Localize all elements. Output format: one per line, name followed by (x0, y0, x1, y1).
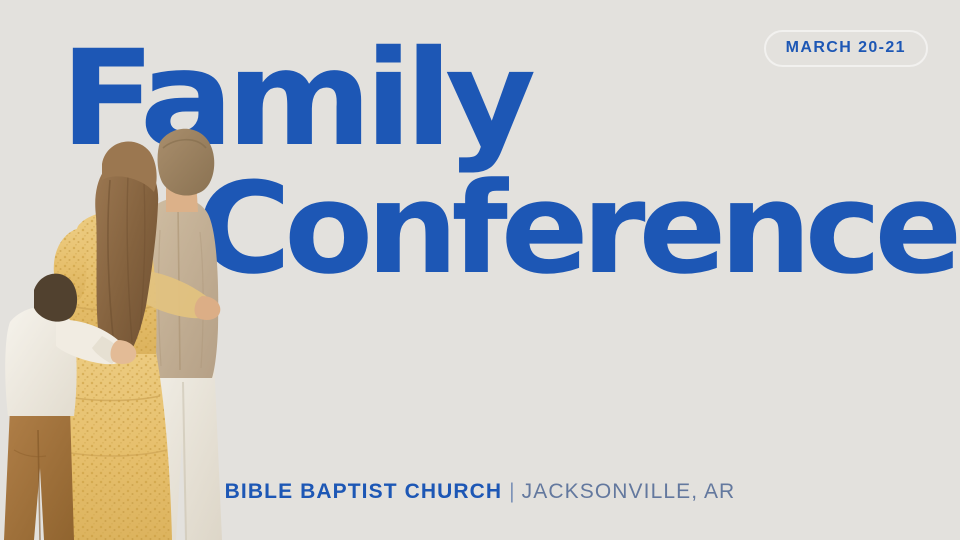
date-badge: MARCH 20-21 (764, 30, 928, 67)
family-photo (0, 120, 250, 540)
headline-line-conference: Conference (196, 176, 955, 282)
city-name: JACKSONVILLE, AR (522, 480, 736, 503)
church-name: BIBLE BAPTIST CHURCH (225, 480, 503, 503)
poster-canvas: MARCH 20-21 Family Conference (0, 0, 960, 540)
footer-caption: BIBLE BAPTIST CHURCH|JACKSONVILLE, AR (0, 480, 960, 504)
headline-line-family: Family (60, 44, 529, 155)
caption-separator: | (509, 480, 514, 503)
